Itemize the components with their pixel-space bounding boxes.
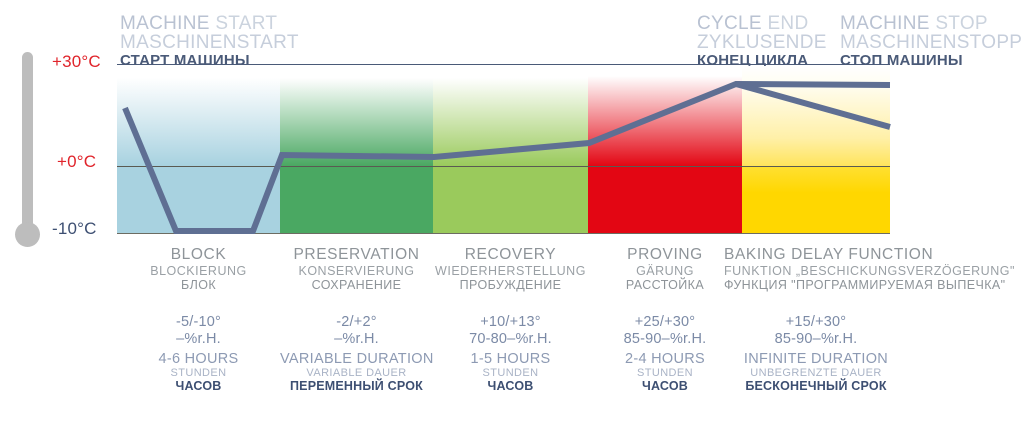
- band-proving-lower: [588, 166, 742, 233]
- phase-baking-delay-en: BAKING DELAY FUNCTION: [724, 246, 908, 264]
- band-baking-delay: [742, 66, 890, 233]
- band-preservation: [280, 66, 433, 233]
- data-recovery-humidity: 70-80–%r.H.: [433, 331, 588, 347]
- data-preservation-temp: -2/+2°: [280, 314, 433, 330]
- phase-baking-delay: BAKING DELAY FUNCTION FUNKTION „BESCHICK…: [724, 246, 908, 292]
- data-column-preservation: -2/+2° –%r.H. VARIABLE DURATION VARIABLE…: [280, 314, 433, 393]
- zero-degree-line: [117, 166, 890, 167]
- band-baking-delay-upper: [742, 66, 890, 166]
- data-recovery-duration-ru: ЧАСОВ: [433, 379, 588, 393]
- data-column-block: -5/-10° –%r.H. 4-6 HOURS STUNDEN ЧАСОВ: [117, 314, 280, 393]
- band-proving-upper: [588, 66, 742, 166]
- thermometer-bulb: [15, 222, 40, 247]
- infographic-root: +30°C +0°C -10°C MACHINE START MASCHINEN…: [0, 0, 1022, 422]
- marker-machine-stop: MACHINE STOP MASCHINENSTOPP СТОП МАШИНЫ: [840, 14, 1022, 68]
- phase-block: BLOCK BLOCKIERUNG БЛОК: [117, 246, 280, 292]
- data-baking-delay-temp: +15/+30°: [742, 314, 890, 330]
- phase-preservation-ru: СОХРАНЕНИЕ: [280, 278, 433, 292]
- band-block-upper: [117, 66, 280, 166]
- data-column-proving: +25/+30° 85-90–%r.H. 2-4 HOURS STUNDEN Ч…: [588, 314, 742, 393]
- phase-proving-de: GÄRUNG: [588, 264, 742, 278]
- phase-preservation: PRESERVATION KONSERVIERUNG СОХРАНЕНИЕ: [280, 246, 433, 292]
- marker-start-en-light: START: [215, 13, 277, 34]
- phase-block-en: BLOCK: [117, 246, 280, 264]
- data-recovery-temp: +10/+13°: [433, 314, 588, 330]
- data-baking-delay-duration-en: INFINITE DURATION: [742, 351, 890, 367]
- data-block-temp: -5/-10°: [117, 314, 280, 330]
- band-preservation-lower: [280, 166, 433, 233]
- marker-stop-en-light: STOP: [935, 13, 988, 34]
- marker-cycleend-de: ZYKLUSENDE: [697, 33, 827, 52]
- phase-proving: PROVING GÄRUNG РАССТОЙКА: [588, 246, 742, 292]
- data-column-recovery: +10/+13° 70-80–%r.H. 1-5 HOURS STUNDEN Ч…: [433, 314, 588, 393]
- band-baking-delay-lower: [742, 166, 890, 233]
- baseline: [117, 233, 890, 234]
- data-column-baking-delay: +15/+30° 85-90–%r.H. INFINITE DURATION U…: [742, 314, 890, 393]
- band-block: [117, 66, 280, 233]
- marker-stop-de: MASCHINENSTOPP: [840, 33, 1022, 52]
- phase-recovery-de: WIEDERHERSTELLUNG: [433, 264, 588, 278]
- phase-labels: BLOCK BLOCKIERUNG БЛОК PRESERVATION KONS…: [117, 246, 890, 306]
- phase-proving-en: PROVING: [588, 246, 742, 264]
- band-recovery: [433, 66, 588, 233]
- marker-cycleend-en-strong: CYCLE: [697, 13, 762, 34]
- phase-block-de: BLOCKIERUNG: [117, 264, 280, 278]
- data-baking-delay-duration-ru: БЕСКОНЕЧНЫЙ СРОК: [742, 379, 890, 393]
- band-recovery-upper: [433, 66, 588, 166]
- data-preservation-duration-ru: ПЕРЕМЕННЫЙ СРОК: [280, 379, 433, 393]
- band-block-lower: [117, 166, 280, 233]
- data-proving-duration-en: 2-4 HOURS: [588, 351, 742, 367]
- marker-start-en-strong: MACHINE: [120, 13, 210, 34]
- data-proving-duration-ru: ЧАСОВ: [588, 379, 742, 393]
- axis-label-30c: +30°C: [52, 52, 101, 72]
- phase-recovery-ru: ПРОБУЖДЕНИЕ: [433, 278, 588, 292]
- data-preservation-duration-de: VARIABLE DAUER: [280, 367, 433, 379]
- marker-machine-start: MACHINE START MASCHINENSTART СТАРТ МАШИН…: [120, 14, 299, 68]
- data-block-duration-ru: ЧАСОВ: [117, 379, 280, 393]
- phase-preservation-de: KONSERVIERUNG: [280, 264, 433, 278]
- phase-baking-delay-ru: ФУНКЦИЯ "ПРОГРАММИРУЕМАЯ ВЫПЕЧКА": [724, 278, 908, 292]
- thermometer-stem: [22, 52, 33, 232]
- data-proving-temp: +25/+30°: [588, 314, 742, 330]
- data-baking-delay-duration-de: UNBEGRENZTE DAUER: [742, 367, 890, 379]
- header-rule: [117, 64, 890, 65]
- chart-bands: [117, 66, 890, 233]
- phase-block-ru: БЛОК: [117, 278, 280, 292]
- band-preservation-upper: [280, 66, 433, 166]
- data-block-duration-en: 4-6 HOURS: [117, 351, 280, 367]
- data-block-duration-de: STUNDEN: [117, 367, 280, 379]
- data-recovery-duration-de: STUNDEN: [433, 367, 588, 379]
- marker-stop-en-strong: MACHINE: [840, 13, 930, 34]
- phase-preservation-en: PRESERVATION: [280, 246, 433, 264]
- band-recovery-lower: [433, 166, 588, 233]
- phase-data-columns: -5/-10° –%r.H. 4-6 HOURS STUNDEN ЧАСОВ -…: [117, 314, 890, 404]
- marker-cycleend-en-light: END: [767, 13, 808, 34]
- band-proving: [588, 66, 742, 233]
- phase-recovery-en: RECOVERY: [433, 246, 588, 264]
- axis-label-neg10c: -10°C: [52, 219, 97, 239]
- marker-cycle-end: CYCLE END ZYKLUSENDE КОНЕЦ ЦИКЛА: [697, 14, 827, 68]
- phase-baking-delay-de: FUNKTION „BESCHICKUNGSVERZÖGERUNG": [724, 264, 908, 278]
- phase-proving-ru: РАССТОЙКА: [588, 278, 742, 292]
- data-preservation-duration-en: VARIABLE DURATION: [280, 351, 433, 367]
- data-proving-humidity: 85-90–%r.H.: [588, 331, 742, 347]
- data-recovery-duration-en: 1-5 HOURS: [433, 351, 588, 367]
- marker-start-de: MASCHINENSTART: [120, 33, 299, 52]
- data-block-humidity: –%r.H.: [117, 331, 280, 347]
- phase-recovery: RECOVERY WIEDERHERSTELLUNG ПРОБУЖДЕНИЕ: [433, 246, 588, 292]
- data-baking-delay-humidity: 85-90–%r.H.: [742, 331, 890, 347]
- data-preservation-humidity: –%r.H.: [280, 331, 433, 347]
- data-proving-duration-de: STUNDEN: [588, 367, 742, 379]
- axis-label-0c: +0°C: [57, 152, 96, 172]
